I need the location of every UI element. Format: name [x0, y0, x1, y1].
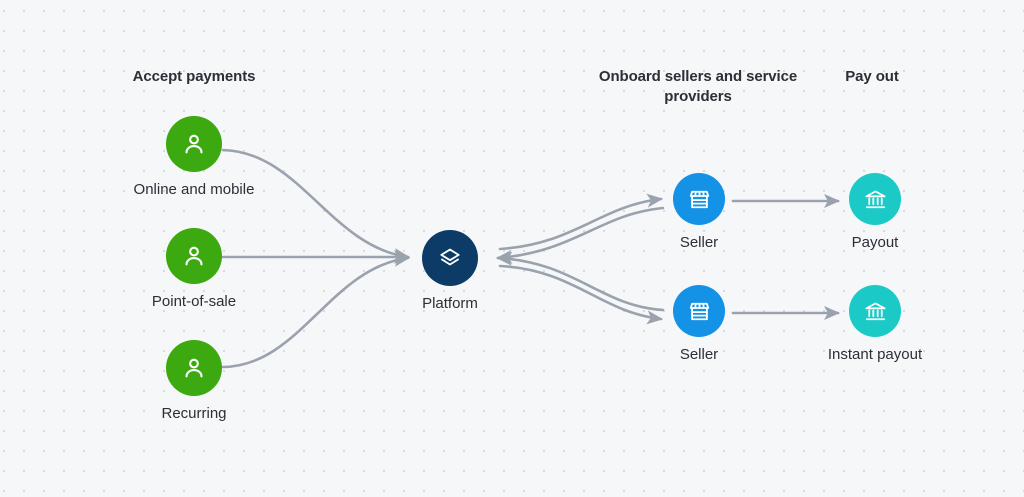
node-online-and-mobile-bubble[interactable] — [166, 116, 222, 172]
person-icon — [180, 130, 208, 158]
edge-platform-to-seller1 — [500, 199, 661, 249]
node-seller-1-bubble[interactable] — [673, 173, 725, 225]
node-seller-2[interactable]: Seller — [640, 285, 758, 364]
node-seller-2-bubble[interactable] — [673, 285, 725, 337]
node-point-of-sale-bubble[interactable] — [166, 228, 222, 284]
node-seller-1-label: Seller — [680, 234, 718, 252]
node-point-of-sale-label: Point-of-sale — [152, 293, 236, 311]
node-platform-bubble[interactable] — [422, 230, 478, 286]
node-payout-label: Payout — [852, 234, 899, 252]
person-icon — [180, 354, 208, 382]
node-instant-payout-bubble[interactable] — [849, 285, 901, 337]
node-recurring[interactable]: Recurring — [118, 340, 270, 423]
node-point-of-sale[interactable]: Point-of-sale — [118, 228, 270, 311]
edge-platform-to-seller2 — [500, 266, 661, 319]
node-platform[interactable]: Platform — [390, 230, 510, 313]
node-instant-payout[interactable]: Instant payout — [812, 285, 938, 364]
diagram-canvas: Accept payments Onboard sellers and serv… — [0, 0, 1024, 497]
node-instant-payout-label: Instant payout — [828, 346, 922, 364]
edge-seller2-to-platform — [498, 258, 663, 310]
node-payout[interactable]: Payout — [812, 173, 938, 252]
bank-icon — [863, 299, 888, 324]
bank-icon — [863, 187, 888, 212]
person-icon — [180, 242, 208, 270]
node-online-and-mobile[interactable]: Online and mobile — [118, 116, 270, 199]
node-online-and-mobile-label: Online and mobile — [134, 181, 255, 199]
storefront-icon — [687, 187, 712, 212]
node-recurring-label: Recurring — [161, 405, 226, 423]
node-seller-1[interactable]: Seller — [640, 173, 758, 252]
edge-seller1-to-platform — [498, 208, 663, 258]
node-platform-label: Platform — [422, 295, 478, 313]
storefront-icon — [687, 299, 712, 324]
node-payout-bubble[interactable] — [849, 173, 901, 225]
node-recurring-bubble[interactable] — [166, 340, 222, 396]
layers-icon — [437, 245, 463, 271]
node-seller-2-label: Seller — [680, 346, 718, 364]
